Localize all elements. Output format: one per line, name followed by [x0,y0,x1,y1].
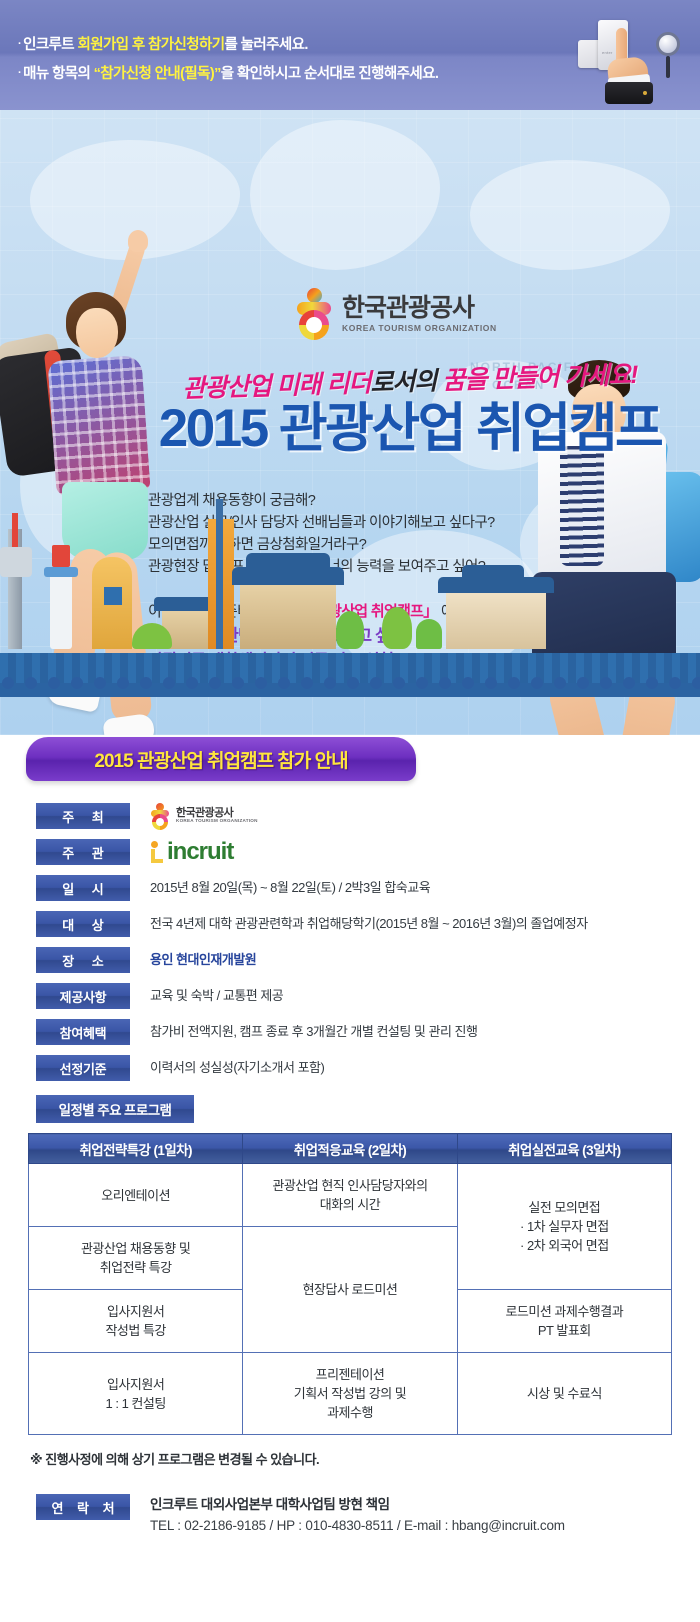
contact-label: 연 락 처 [36,1494,130,1520]
namsan-tower-head-icon [0,547,32,577]
notice-line-2: ·매뉴 항목의 “참가신청 안내(필독)”을 확인하시고 순서대로 진행해주세요… [18,59,578,88]
kto-symbol-icon [295,288,333,340]
hero-section: NORTH PACIFIC OCEAN [0,110,700,735]
palace-base-icon [240,581,336,649]
notice-bar: ·인크루트 회원가입 후 참가신청하기를 눌러주세요. ·매뉴 항목의 “참가신… [0,0,700,110]
host-kto-logo: 한국관광공사 KOREA TOURISM ORGANIZATION [150,803,258,829]
hero-main-title: 2015 관광산업 취업캠프 [140,400,680,458]
info-row-criteria: 선정기준 이력서의 성실성(자기소개서 포함) [0,1055,700,1081]
sleeve-icon [605,82,653,104]
incruit-dot [151,841,158,848]
info-value-venue: 용인 현대인재개발원 [150,947,256,973]
cufflink-icon [643,91,647,95]
contact-details: TEL : 02-2186-9185 / HP : 010-4830-8511 … [150,1515,565,1537]
info-value-target: 전국 4년제 대학 관광관련학과 취업해당학기(2015년 8월 ~ 2016년… [150,911,588,937]
pagoda-icon [50,571,72,649]
info-row-date: 일 시 2015년 8월 20일(목) ~ 8월 22일(토) / 2박3일 합… [0,875,700,901]
kto-head-shape [307,288,322,303]
info-list: 주 최 한국관광공사 KOREA TOURISM ORGANIZATION 주 … [0,795,700,1081]
info-label-venue: 장 소 [36,947,130,973]
tower-window-icon [104,587,122,605]
kto-ring-shape [299,310,329,340]
hanok-roof-icon [438,577,554,593]
cell-day2-hr-talk: 관광산업 현직 인사담당자와의대화의 시간 [243,1164,457,1227]
notice-line-1: ·인크루트 회원가입 후 참가신청하기를 눌러주세요. [18,30,578,59]
fence-dots [0,675,700,691]
notice-line-2-pre: 매뉴 항목의 [23,66,94,82]
table-row: 입사지원서1 : 1 컨설팅 프리젠테이션기획서 작성법 강의 및과제수행 시상… [29,1353,672,1435]
section-banner: 2015 관광산업 취업캠프 참가 안내 [26,737,416,781]
info-value-criteria: 이력서의 성실성(자기소개서 포함) [150,1055,324,1081]
cell-day3-pt-presentation: 로드미션 과제수행결과PT 발표회 [457,1290,671,1353]
cell-day1-resume-lecture: 입사지원서작성법 특강 [29,1290,243,1353]
hanok-body-icon [446,589,546,649]
info-row-target: 대 상 전국 4년제 대학 관광관련학과 취업해당학기(2015년 8월 ~ 2… [0,911,700,937]
kto-wordmark: 한국관광공사 KOREA TOURISM ORGANIZATION [342,295,497,332]
info-label-benefits: 참여혜택 [36,1019,130,1045]
palace-roof-lower-icon [232,567,344,585]
kto-mini-ring [152,814,168,830]
hero-script-b: 로서의 [370,367,437,397]
info-value-benefits: 참가비 전액지원, 캠프 종료 후 3개월간 개별 컨설팅 및 관리 진행 [150,1019,477,1045]
info-label-host: 주 최 [36,803,130,829]
cell-day3-awards: 시상 및 수료식 [457,1353,671,1435]
poster-page: ·인크루트 회원가입 후 참가신청하기를 눌러주세요. ·매뉴 항목의 “참가신… [0,0,700,1622]
magnifier-icon [656,32,680,56]
tree-icon [336,611,364,649]
info-row-benefits: 참여혜택 참가비 전액지원, 캠프 종료 후 3개월간 개별 컨설팅 및 관리 … [0,1019,700,1045]
notice-line-2-post: 을 확인하시고 순서대로 진행해주세요. [221,66,439,82]
pagoda-roof-icon [44,567,78,577]
skyscraper-spire-icon [216,499,223,649]
info-row-venue: 장 소 용인 현대인재개발원 [0,947,700,973]
contact-section: 연 락 처 인크루트 대외사업본부 대학사업팀 방현 책임 TEL : 02-2… [0,1494,700,1537]
card-micro-text: enter [602,50,613,55]
notice-line-1-post: 를 눌러주세요. [224,37,307,53]
kto-logo: 한국관광공사 KOREA TOURISM ORGANIZATION [295,288,497,340]
info-label-criteria: 선정기준 [36,1055,130,1081]
cell-day1-trends: 관광산업 채용동향 및취업전략 특강 [29,1227,243,1290]
info-row-organizer: 주 관 incruit [0,839,700,865]
kto-name-en: KOREA TOURISM ORGANIZATION [342,324,497,333]
table-row: 오리엔테이션 관광산업 현직 인사담당자와의대화의 시간 실전 모의면접· 1차… [29,1164,672,1227]
incruit-wordmark: incruit [167,838,233,866]
section-banner-title: 2015 관광산업 취업캠프 참가 안내 [94,746,347,773]
section-banner-wrap: 2015 관광산업 취업캠프 참가 안내 [0,735,700,795]
kto-mini-name-en: KOREA TOURISM ORGANIZATION [176,819,258,824]
city-skyline-illustration [0,507,700,697]
notice-line-2-emphasis: “참가신청 안내(필독)” [94,66,221,82]
incruit-mark-icon [150,840,166,864]
incruit-arm [151,859,163,863]
pagoda-top-icon [52,545,70,567]
magnifier-handle-icon [666,56,670,78]
program-header-day1: 취업전략특강 (1일차) [29,1134,243,1164]
info-row-host: 주 최 한국관광공사 KOREA TOURISM ORGANIZATION [0,803,700,829]
cell-day2-presentation: 프리젠테이션기획서 작성법 강의 및과제수행 [243,1353,457,1435]
info-row-provisions: 제공사항 교육 및 숙박 / 교통편 제공 [0,983,700,1009]
cell-day2-road-mission: 현장답사 로드미션 [243,1227,457,1353]
program-table: 취업전략특강 (1일차) 취업적응교육 (2일차) 취업실전교육 (3일차) 오… [28,1133,672,1435]
incruit-logo: incruit [150,839,233,865]
woman-hand [128,230,148,252]
info-label-organizer: 주 관 [36,839,130,865]
program-header-day2: 취업적응교육 (2일차) [243,1134,457,1164]
notice-text-group: ·인크루트 회원가입 후 참가신청하기를 눌러주세요. ·매뉴 항목의 “참가신… [18,30,578,88]
cell-day1-orientation: 오리엔테이션 [29,1164,243,1227]
woman-plaid-shirt [47,355,150,496]
info-label-target: 대 상 [36,911,130,937]
schedule-badge: 일정별 주요 프로그램 [36,1095,194,1123]
program-header-day3: 취업실전교육 (3일차) [457,1134,671,1164]
cell-day3-mock-interview: 실전 모의면접· 1차 실무자 면접· 2차 외국어 면접 [457,1164,671,1290]
palace-roof-upper-icon [246,553,330,569]
kto-symbol-mini-icon [150,803,170,829]
cell-day1-consulting: 입사지원서1 : 1 컨설팅 [29,1353,243,1435]
namsan-antenna-icon [12,513,18,547]
info-value-provisions: 교육 및 숙박 / 교통편 제공 [150,983,283,1009]
hanok-roof-top-icon [462,565,524,579]
program-table-header-row: 취업전략특강 (1일차) 취업적응교육 (2일차) 취업실전교육 (3일차) [29,1134,672,1164]
info-label-date: 일 시 [36,875,130,901]
program-change-note: ※ 진행사정에 의해 상기 프로그램은 변경될 수 있습니다. [30,1449,700,1468]
info-label-provisions: 제공사항 [36,983,130,1009]
hand-clicking-card-icon: enter [572,8,682,104]
tree-icon [382,607,412,649]
contact-lines: 인크루트 대외사업본부 대학사업팀 방현 책임 TEL : 02-2186-91… [150,1494,565,1537]
info-value-date: 2015년 8월 20일(목) ~ 8월 22일(토) / 2박3일 합숙교육 [150,875,430,901]
bush-icon [416,619,442,649]
woman-face [76,308,118,358]
hero-script-c: 꿈을 만들어 가세요! [436,361,638,395]
woman-shoe-right [102,713,156,735]
kto-mini-wordmark: 한국관광공사 KOREA TOURISM ORGANIZATION [176,808,258,824]
notice-line-1-pre: 인크루트 [23,37,77,53]
contact-person: 인크루트 대외사업본부 대학사업팀 방현 책임 [150,1494,565,1515]
notice-line-1-emphasis: 회원가입 후 참가신청하기 [77,37,224,53]
kto-name-kr: 한국관광공사 [342,295,497,321]
